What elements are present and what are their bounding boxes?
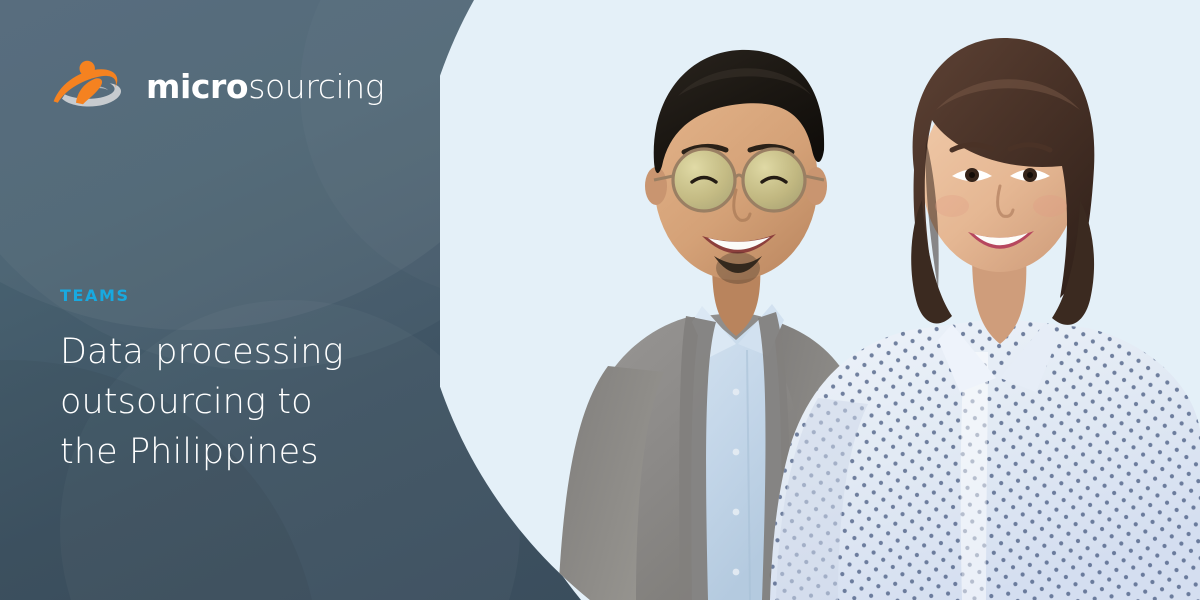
team-photo — [440, 0, 1200, 600]
eyebrow-label: TEAMS — [60, 286, 440, 305]
microsourcing-teams-banner: microsourcing TEAMS Data processing outs… — [0, 0, 1200, 600]
copy-block: TEAMS Data processing outsourcing to the… — [60, 286, 440, 477]
woman-cheek-left — [935, 195, 969, 217]
microsourcing-wordmark: microsourcing — [146, 70, 384, 103]
headline-line-3: the Philippines — [60, 427, 440, 477]
headline-line-2: outsourcing to — [60, 377, 440, 427]
man-chin-shadow — [716, 252, 760, 284]
wordmark-light: sourcing — [248, 67, 384, 106]
page-title: Data processing outsourcing to the Phili… — [60, 327, 440, 477]
microsourcing-logo[interactable]: microsourcing — [48, 58, 384, 114]
man-ear-right — [805, 167, 827, 205]
man-ear-left — [645, 167, 667, 205]
woman-cheek-right — [1033, 195, 1067, 217]
headline-line-1: Data processing — [60, 327, 440, 377]
microsourcing-running-figure-icon — [48, 58, 132, 114]
wordmark-bold: micro — [146, 67, 248, 106]
